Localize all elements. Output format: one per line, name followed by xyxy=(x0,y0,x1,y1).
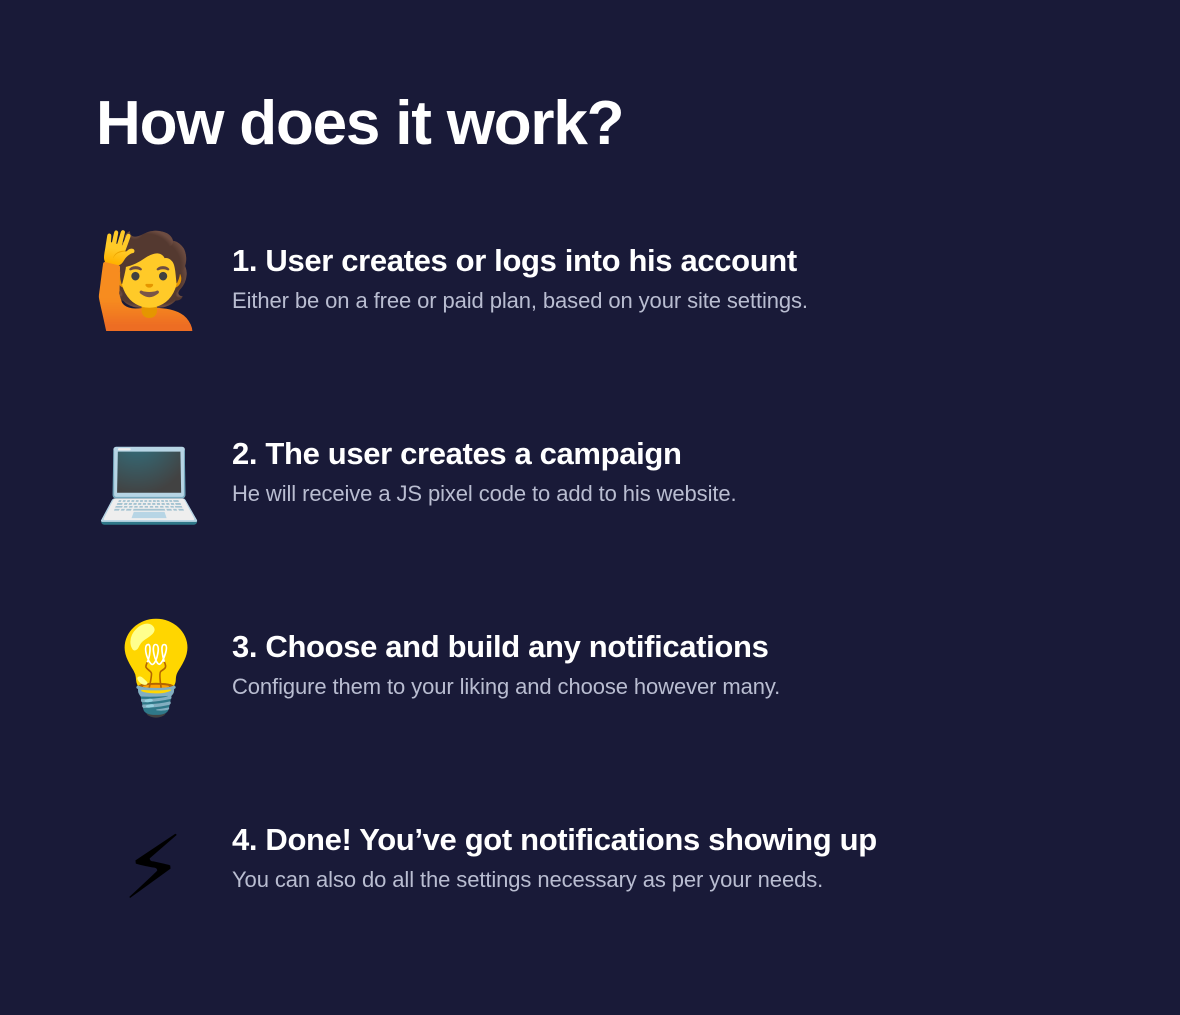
step-body: 2. The user creates a campaign He will r… xyxy=(232,421,1096,508)
step-title: 1. User creates or logs into his account xyxy=(232,242,1096,280)
step-description: Either be on a free or paid plan, based … xyxy=(232,287,1096,315)
step-description: Configure them to your liking and choose… xyxy=(232,673,1096,701)
step-body: 1. User creates or logs into his account… xyxy=(232,228,1096,315)
list-item: ⚡ 4. Done! You’ve got notifications show… xyxy=(96,807,1096,1000)
high-voltage-icon: ⚡ xyxy=(98,815,208,921)
step-title: 3. Choose and build any notifications xyxy=(232,628,1096,666)
page-title: How does it work? xyxy=(96,86,623,162)
light-bulb-icon: 💡 xyxy=(100,616,210,722)
list-item: 💻 2. The user creates a campaign He will… xyxy=(96,421,1096,614)
list-item: 💡 3. Choose and build any notifications … xyxy=(96,614,1096,807)
step-body: 4. Done! You’ve got notifications showin… xyxy=(232,807,1096,894)
step-title: 2. The user creates a campaign xyxy=(232,435,1096,473)
step-title: 4. Done! You’ve got notifications showin… xyxy=(232,821,1096,859)
step-description: You can also do all the settings necessa… xyxy=(232,866,1096,894)
step-description: He will receive a JS pixel code to add t… xyxy=(232,480,1096,508)
step-body: 3. Choose and build any notifications Co… xyxy=(232,614,1096,701)
how-it-works-section: How does it work? 🙋 1. User creates or l… xyxy=(0,0,1180,1015)
laptop-icon: 💻 xyxy=(94,425,204,531)
person-raising-hand-icon: 🙋 xyxy=(92,228,202,334)
steps-list: 🙋 1. User creates or logs into his accou… xyxy=(96,228,1096,1000)
list-item: 🙋 1. User creates or logs into his accou… xyxy=(96,228,1096,421)
